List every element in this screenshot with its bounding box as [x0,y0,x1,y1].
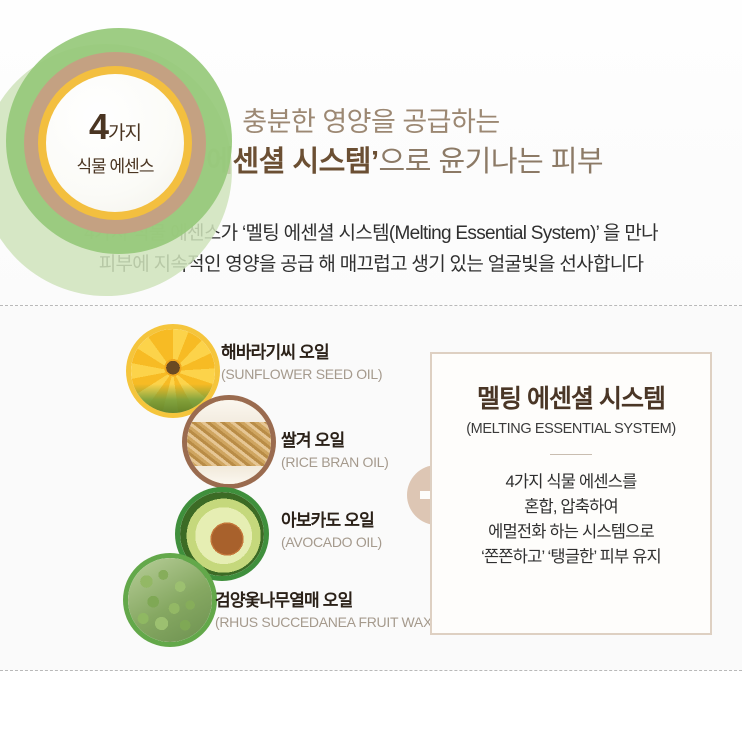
infographic-page: 충분한 영양을 공급하는 ‘멜팅 에센셜 시스템’으로 윤기나는 피부 4가지 … [0,0,742,742]
ingredient-name-en: (RICE BRAN OIL) [281,453,389,472]
ingredient-name-ko: 검양옻나무열매 오일 [215,590,436,612]
ingredient-label-sunflower: 해바라기씨 오일 (SUNFLOWER SEED OIL) [221,342,382,384]
rice-bran-photo-icon [187,400,271,484]
panel-description-line-1: 4가지 식물 에센스를 [432,470,710,495]
essence-label-line-2: 식물 에센스 [77,152,154,177]
panel-title: 멜팅 에센셜 시스템 [432,386,710,414]
panel-subtitle: (MELTING ESSENTIAL SYSTEM) [432,421,710,437]
panel-description-line-3: 에멀전화 하는 시스템으로 [432,520,710,545]
ingredient-label-avocado: 아보카도 오일 (AVOCADO OIL) [281,510,382,552]
footer-section [0,671,742,742]
ingredient-label-rice-bran: 쌀겨 오일 (RICE BRAN OIL) [281,430,389,472]
panel-divider [550,454,592,455]
headline-line-2-rest: 으로 윤기나는 피부 [379,146,604,178]
essence-count-row: 4가지 [89,109,141,145]
essence-wheel-label: 4가지 식물 에센스 [46,74,184,212]
ingredient-name-ko: 쌀겨 오일 [281,430,389,452]
avocado-photo-icon [180,492,264,576]
ingredient-name-ko: 해바라기씨 오일 [221,342,382,364]
ingredient-name-en: (SUNFLOWER SEED OIL) [221,365,382,384]
ingredient-name-en: (RHUS SUCCEDANEA FRUIT WAX) [215,613,436,632]
melting-essential-system-panel: 멜팅 에센셜 시스템 (MELTING ESSENTIAL SYSTEM) 4가… [430,352,712,635]
panel-description-line-2: 혼합, 압축하여 [432,495,710,520]
panel-description-line-4: ‘쫀쫀하고’ ‘탱글한’ 피부 유지 [432,545,710,570]
essence-count-suffix: 가지 [108,124,141,145]
essence-wheel: 4가지 식물 에센스 [0,18,280,318]
rhus-berry-photo-icon [128,558,212,642]
ingredient-name-en: (AVOCADO OIL) [281,533,382,552]
ingredient-label-rhus: 검양옻나무열매 오일 (RHUS SUCCEDANEA FRUIT WAX) [215,590,436,632]
panel-description: 4가지 식물 에센스를 혼합, 압축하여 에멀전화 하는 시스템으로 ‘쫀쫀하고… [432,470,710,570]
ingredient-name-ko: 아보카도 오일 [281,510,382,532]
essence-count: 4 [89,109,108,145]
